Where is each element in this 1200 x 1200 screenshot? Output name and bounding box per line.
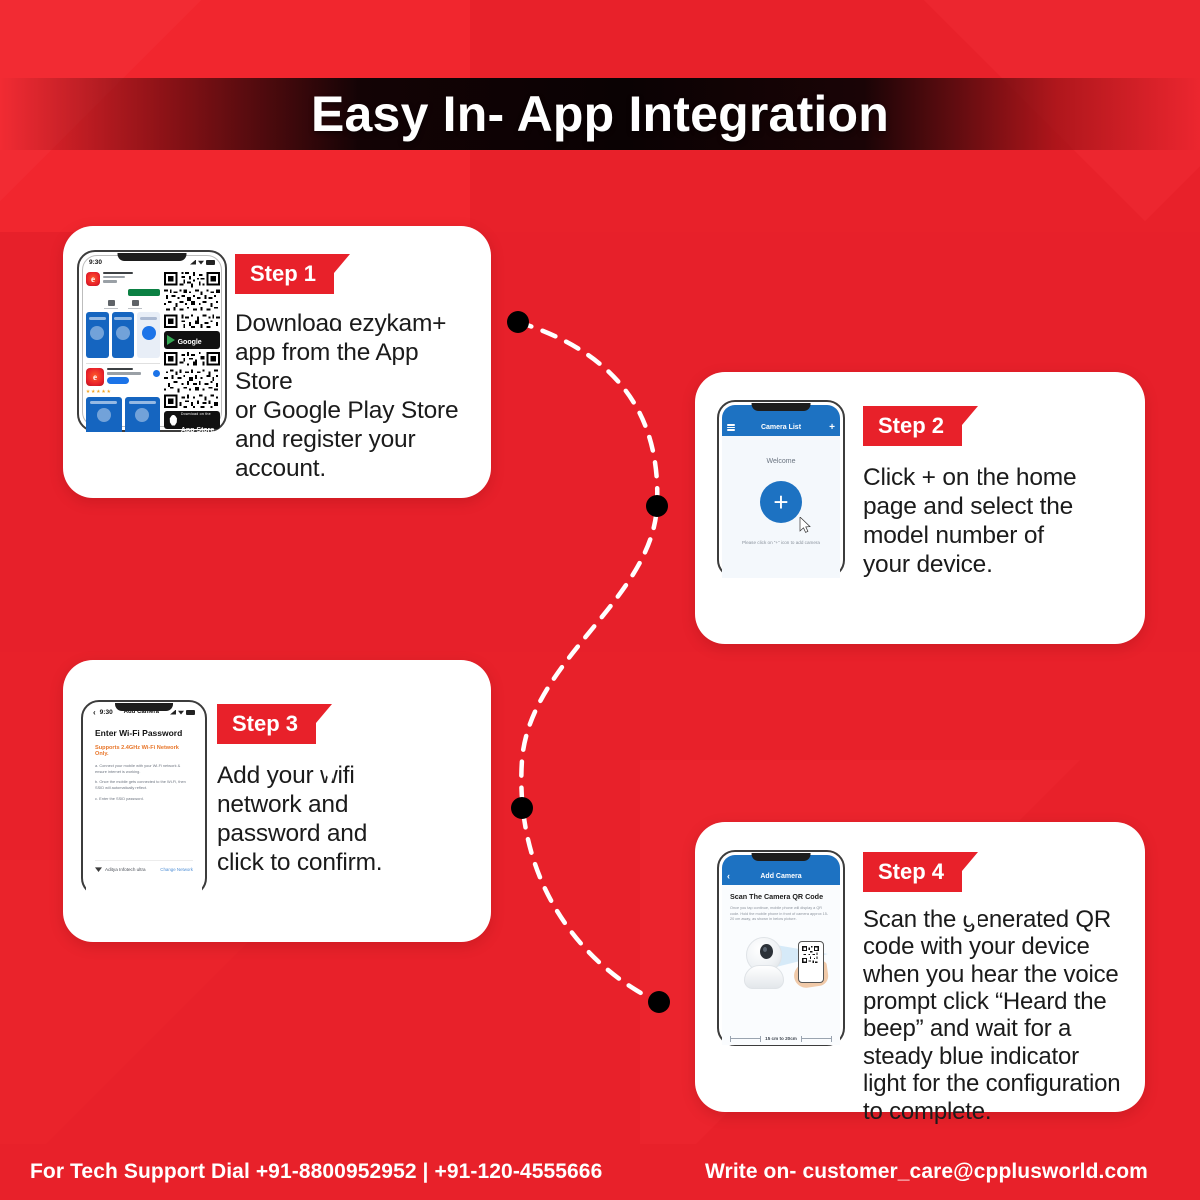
step-card-4: ‹ Add Camera Scan The Camera QR Code Onc… [695,822,1145,1112]
app-bar: Camera List + [722,419,840,436]
infographic-root: Easy In- App Integration 9:30 [0,0,1200,1200]
step-3-phone-mockup: ‹ 9:30 Add Camera Enter Wi-Fi Password S… [81,700,207,896]
app-store-qr-code [164,352,220,408]
step-4-content: Step 4 Scan the generated QR code with y… [845,822,1145,1125]
screenshot-strip-1 [86,312,160,358]
step-1-phone-mockup: 9:30 [77,250,227,432]
wifi-instruction: b. Once the mobile gets connected to the… [95,779,193,790]
tech-support-text: For Tech Support Dial +91-8800952952 | +… [30,1160,602,1184]
step-3-content: Step 3 Add your wifi network and passwor… [207,660,491,878]
step-1-description: Download ezykam+ app from the App Store … [235,310,473,483]
google-play-qr-code [164,272,220,328]
wifi-heading: Enter Wi-Fi Password [95,728,193,738]
scan-heading: Scan The Camera QR Code [730,892,832,901]
ssid-row: Aditya Infotech ultra [95,866,146,872]
screenshot-strip-2 [86,397,160,432]
battery-icon [186,710,195,715]
badge-line1: Download on the [181,412,211,416]
wifi-icon [198,260,204,265]
camera-illustration [730,929,832,995]
step-3-description: Add your wifi network and password and c… [217,762,473,878]
apple-icon [169,415,178,426]
step-4-description: Scan the generated QR code with your dev… [863,906,1133,1125]
step-4-badge-label: Step 4 [863,852,978,892]
google-play-icon [167,335,175,345]
store-listing-google [86,272,160,286]
status-icons [170,710,195,715]
add-camera-plus-icon[interactable]: + [829,423,835,433]
step-1-badge: Step 1 [235,254,350,294]
signal-icon [190,260,196,265]
signal-icon [170,710,176,715]
distance-indicator: 15 cm to 20cm [730,1036,832,1041]
app-bar-title: Add Camera [760,873,801,880]
back-icon[interactable]: ‹ [93,708,96,717]
step-card-1: 9:30 [63,226,491,498]
step-3-badge-label: Step 3 [217,704,332,744]
status-icons [190,260,215,265]
wifi-instruction: c. Enter the SSID password. [95,796,193,802]
app-bar-title: Camera List [761,424,801,431]
add-camera-hint: Please click on “+” icon to add camera [742,540,820,545]
welcome-label: Welcome [766,458,795,465]
status-time: 9:30 [89,259,102,266]
back-icon[interactable]: ‹ [727,872,730,881]
app-store-badge[interactable]: Download on the App Store [164,411,220,429]
add-device-button[interactable]: + [760,481,802,523]
step-4-phone-mockup: ‹ Add Camera Scan The Camera QR Code Onc… [717,850,845,1046]
wifi-note: Supports 2.4GHz Wi-Fi Network Only. [95,745,193,757]
distance-label: 15 cm to 20cm [765,1036,797,1041]
ssid-label: Aditya Infotech ultra [105,867,146,872]
step-4-badge: Step 4 [863,852,978,892]
step-2-badge-label: Step 2 [863,406,978,446]
ezykam-app-icon [86,272,100,286]
rating-stars [86,389,160,393]
install-button[interactable] [128,289,160,296]
app-bar: ‹ Add Camera [722,868,840,885]
generated-qr-code [802,946,819,963]
change-network-link[interactable]: Change Network [160,867,193,872]
footer-bar: For Tech Support Dial +91-8800952952 | +… [0,1144,1200,1200]
step-1-badge-label: Step 1 [235,254,350,294]
scan-description: Once you tap continue, mobile phone will… [730,906,832,923]
step-card-3: ‹ 9:30 Add Camera Enter Wi-Fi Password S… [63,660,491,942]
wifi-icon [95,866,102,872]
ezykam-app-icon-2 [86,368,104,386]
menu-icon[interactable] [727,423,735,432]
download-icon [153,370,160,377]
get-button[interactable] [107,377,129,384]
step-2-badge: Step 2 [863,406,978,446]
handheld-phone [798,941,824,983]
wifi-instruction: a. Connect your mobile with your Wi-Fi n… [95,763,193,774]
status-time: 9:30 [100,709,113,716]
step-1-content: Step 1 Download ezykam+ app from the App… [227,226,491,483]
cursor-icon [799,517,811,533]
step-2-phone-mockup: Camera List + Welcome + Please click on … [717,400,845,578]
google-play-badge[interactable]: GET IT ON Google Play [164,331,220,349]
step-2-description: Click + on the home page and select the … [863,464,1127,580]
step-3-badge: Step 3 [217,704,332,744]
badge-line2: App Store [181,427,214,432]
step-card-2: Camera List + Welcome + Please click on … [695,372,1145,644]
step-2-content: Step 2 Click + on the home page and sele… [845,372,1145,580]
camera-base [744,965,784,989]
store-listing-apple [86,368,160,386]
page-title: Easy In- App Integration [0,74,1200,154]
wifi-icon [178,710,184,715]
camera-lens [760,944,773,959]
battery-icon [206,260,215,265]
app-metrics [86,300,160,309]
email-text: Write on- customer_care@cpplusworld.com [705,1160,1148,1184]
